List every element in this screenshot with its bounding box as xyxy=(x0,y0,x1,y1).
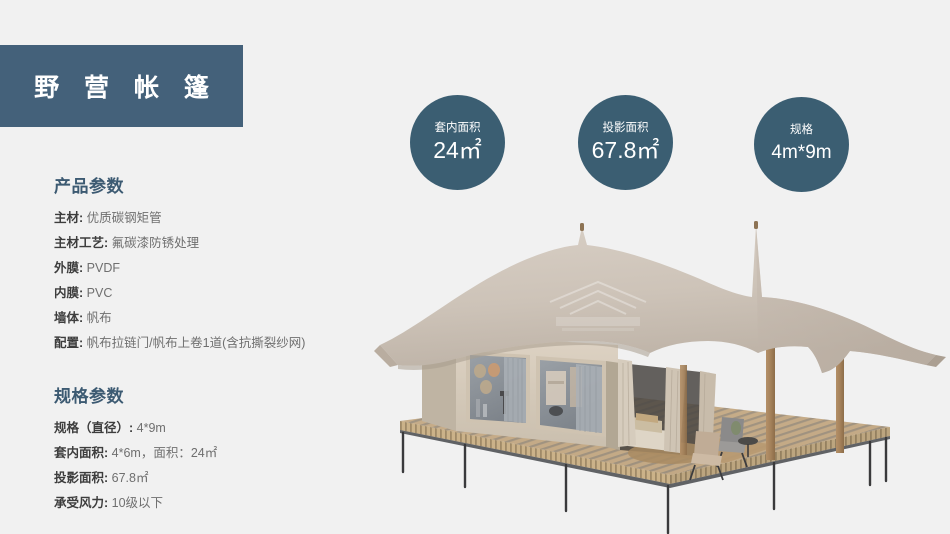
badge-interior-area: 套内面积 24㎡ xyxy=(410,95,505,190)
spec-list: 主材: 优质碳钢矩管 主材工艺: 氟碳漆防锈处理 外膜: PVDF 内膜: PV… xyxy=(54,206,384,356)
badge-value: 67.8㎡ xyxy=(592,137,660,164)
spec-label: 内膜: xyxy=(54,286,83,300)
badge-group: 套内面积 24㎡ 投影面积 67.8㎡ 规格 4m*9m xyxy=(410,95,880,195)
support-post-mid xyxy=(766,345,775,460)
support-post-bay xyxy=(680,365,687,455)
specification-panel: 产品参数 主材: 优质碳钢矩管 主材工艺: 氟碳漆防锈处理 外膜: PVDF 内… xyxy=(54,172,384,516)
spec-value: 帆布 xyxy=(87,311,112,325)
spec-row: 规格（直径）: 4*9m xyxy=(54,416,384,441)
spec-value: 氟碳漆防锈处理 xyxy=(112,236,200,250)
spec-value: 优质碳钢矩管 xyxy=(87,211,162,225)
badge-dimensions: 规格 4m*9m xyxy=(754,97,849,192)
spec-value: 10级以下 xyxy=(112,496,163,510)
spec-value: 帆布拉链门/帆布上卷1道(含抗撕裂纱网) xyxy=(87,336,306,350)
badge-label: 投影面积 xyxy=(603,121,649,136)
badge-value: 24㎡ xyxy=(433,137,482,164)
page-title: 野 营 帐 篷 xyxy=(25,68,218,104)
spec-row: 主材工艺: 氟碳漆防锈处理 xyxy=(54,231,384,256)
section-product-parameters: 产品参数 主材: 优质碳钢矩管 主材工艺: 氟碳漆防锈处理 外膜: PVDF 内… xyxy=(54,172,384,356)
tent-illustration xyxy=(370,195,950,534)
cabin-corner-post xyxy=(606,361,620,450)
curtain-left xyxy=(504,357,526,423)
section-heading: 产品参数 xyxy=(54,172,384,197)
spec-value: 67.8㎡ xyxy=(112,471,149,485)
spec-row: 外膜: PVDF xyxy=(54,256,384,281)
spec-value: 4*6m，面积：24㎡ xyxy=(112,446,218,460)
spec-label: 主材: xyxy=(54,211,83,225)
spec-value: 4*9m xyxy=(137,421,166,435)
spec-row: 墙体: 帆布 xyxy=(54,306,384,331)
support-post-right xyxy=(836,353,844,453)
badge-number: 67.8 xyxy=(592,137,637,163)
potted-plant xyxy=(731,421,741,435)
badge-label: 规格 xyxy=(790,123,813,138)
spec-label: 墙体: xyxy=(54,311,83,325)
badge-number: 24 xyxy=(433,137,459,163)
spec-label: 配置: xyxy=(54,336,83,350)
spec-row: 投影面积: 67.8㎡ xyxy=(54,466,384,491)
badge-value: 4m*9m xyxy=(771,139,831,166)
spec-label: 主材工艺: xyxy=(54,236,108,250)
badge-unit: ㎡ xyxy=(459,137,482,163)
spec-row: 套内面积: 4*6m，面积：24㎡ xyxy=(54,441,384,466)
spec-value: PVDF xyxy=(87,261,120,275)
badge-label: 套内面积 xyxy=(435,121,481,136)
title-banner: 野 营 帐 篷 xyxy=(0,45,243,127)
spec-row: 承受风力: 10级以下 xyxy=(54,491,384,516)
section-heading: 规格参数 xyxy=(54,382,384,407)
spec-row: 内膜: PVC xyxy=(54,281,384,306)
canopy-peak-ties xyxy=(580,221,758,231)
badge-projected-area: 投影面积 67.8㎡ xyxy=(578,95,673,190)
spec-row: 配置: 帆布拉链门/帆布上卷1道(含抗撕裂纱网) xyxy=(54,331,384,356)
spec-label: 承受风力: xyxy=(54,496,108,510)
product-spec-page: 野 营 帐 篷 套内面积 24㎡ 投影面积 67.8㎡ 规格 4m*9m 产品参… xyxy=(0,0,950,534)
spec-label: 规格（直径）: xyxy=(54,421,133,435)
badge-unit: ㎡ xyxy=(636,137,659,163)
spec-label: 套内面积: xyxy=(54,446,108,460)
section-specification-parameters: 规格参数 规格（直径）: 4*9m 套内面积: 4*6m，面积：24㎡ 投影面积… xyxy=(54,382,384,516)
spec-list: 规格（直径）: 4*9m 套内面积: 4*6m，面积：24㎡ 投影面积: 67.… xyxy=(54,416,384,516)
spec-label: 外膜: xyxy=(54,261,83,275)
spec-value: PVC xyxy=(87,286,113,300)
spec-label: 投影面积: xyxy=(54,471,108,485)
spec-row: 主材: 优质碳钢矩管 xyxy=(54,206,384,231)
